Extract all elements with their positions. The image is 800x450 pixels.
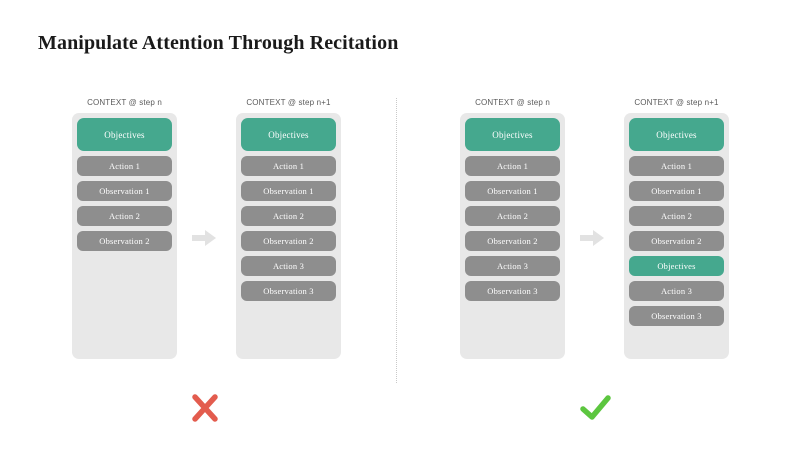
context-item-observation[interactable]: Observation 2 bbox=[465, 231, 560, 251]
context-column-left-step-n-plus-1: CONTEXT @ step n+1 Objectives Action 1 O… bbox=[236, 98, 341, 359]
context-item-observation[interactable]: Observation 2 bbox=[241, 231, 336, 251]
arrow-shaft bbox=[192, 235, 206, 241]
column-header: CONTEXT @ step n bbox=[460, 98, 565, 107]
arrow-shaft bbox=[580, 235, 594, 241]
context-item-action[interactable]: Action 2 bbox=[465, 206, 560, 226]
context-item-action[interactable]: Action 3 bbox=[241, 256, 336, 276]
context-item-objectives-recited[interactable]: Objectives bbox=[629, 256, 724, 276]
context-item-observation[interactable]: Observation 2 bbox=[77, 231, 172, 251]
context-panel: Objectives Action 1 Observation 1 Action… bbox=[236, 113, 341, 359]
context-item-observation[interactable]: Observation 3 bbox=[629, 306, 724, 326]
context-item-observation[interactable]: Observation 1 bbox=[465, 181, 560, 201]
context-panel: Objectives Action 1 Observation 1 Action… bbox=[460, 113, 565, 359]
context-item-action[interactable]: Action 2 bbox=[77, 206, 172, 226]
context-item-action[interactable]: Action 3 bbox=[465, 256, 560, 276]
context-column-right-step-n: CONTEXT @ step n Objectives Action 1 Obs… bbox=[460, 98, 565, 359]
context-item-objectives[interactable]: Objectives bbox=[77, 118, 172, 151]
cross-mark-icon bbox=[185, 390, 225, 426]
right-verdict bbox=[575, 390, 615, 426]
arrow-head-icon bbox=[205, 230, 216, 246]
context-item-action[interactable]: Action 2 bbox=[629, 206, 724, 226]
column-header: CONTEXT @ step n bbox=[72, 98, 177, 107]
context-item-action[interactable]: Action 3 bbox=[629, 281, 724, 301]
center-divider bbox=[396, 98, 397, 383]
context-item-observation[interactable]: Observation 3 bbox=[241, 281, 336, 301]
context-item-observation[interactable]: Observation 1 bbox=[629, 181, 724, 201]
arrow-head-icon bbox=[593, 230, 604, 246]
column-header: CONTEXT @ step n+1 bbox=[236, 98, 341, 107]
check-mark-icon bbox=[575, 390, 615, 426]
context-panel: Objectives Action 1 Observation 1 Action… bbox=[72, 113, 177, 359]
context-item-action[interactable]: Action 1 bbox=[241, 156, 336, 176]
context-column-left-step-n: CONTEXT @ step n Objectives Action 1 Obs… bbox=[72, 98, 177, 359]
left-flow-arrow bbox=[192, 230, 216, 246]
context-item-observation[interactable]: Observation 2 bbox=[629, 231, 724, 251]
context-item-action[interactable]: Action 2 bbox=[241, 206, 336, 226]
context-item-objectives[interactable]: Objectives bbox=[241, 118, 336, 151]
context-item-action[interactable]: Action 1 bbox=[465, 156, 560, 176]
context-panel: Objectives Action 1 Observation 1 Action… bbox=[624, 113, 729, 359]
context-item-objectives[interactable]: Objectives bbox=[629, 118, 724, 151]
page-title: Manipulate Attention Through Recitation bbox=[38, 30, 398, 56]
column-header: CONTEXT @ step n+1 bbox=[624, 98, 729, 107]
context-item-observation[interactable]: Observation 1 bbox=[77, 181, 172, 201]
context-item-observation[interactable]: Observation 1 bbox=[241, 181, 336, 201]
left-verdict bbox=[185, 390, 225, 426]
context-item-observation[interactable]: Observation 3 bbox=[465, 281, 560, 301]
context-item-action[interactable]: Action 1 bbox=[629, 156, 724, 176]
right-flow-arrow bbox=[580, 230, 604, 246]
context-item-objectives[interactable]: Objectives bbox=[465, 118, 560, 151]
context-item-action[interactable]: Action 1 bbox=[77, 156, 172, 176]
context-column-right-step-n-plus-1: CONTEXT @ step n+1 Objectives Action 1 O… bbox=[624, 98, 729, 359]
